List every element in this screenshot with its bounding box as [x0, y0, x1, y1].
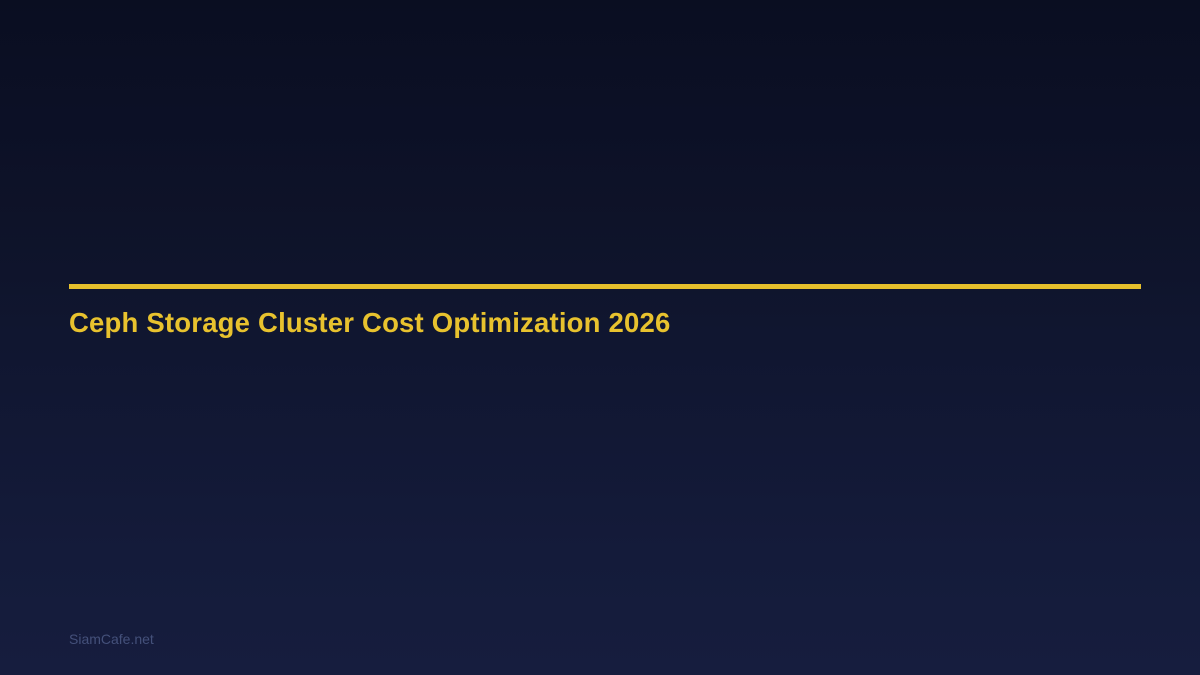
page-title: Ceph Storage Cluster Cost Optimization 2… [69, 306, 1141, 340]
slide-canvas: Ceph Storage Cluster Cost Optimization 2… [0, 0, 1200, 675]
slide-body-content [69, 360, 1141, 610]
title-accent-rule [69, 284, 1141, 289]
footer-watermark: SiamCafe.net [69, 631, 154, 648]
